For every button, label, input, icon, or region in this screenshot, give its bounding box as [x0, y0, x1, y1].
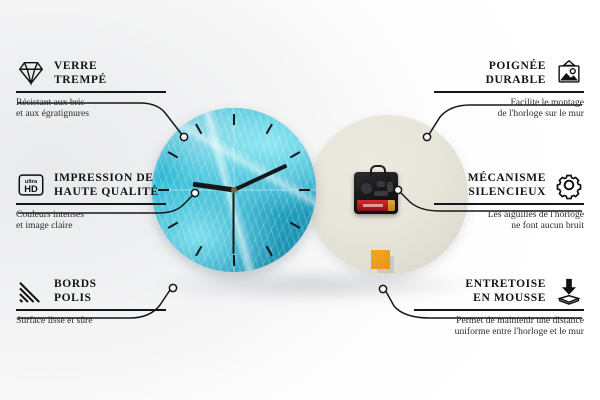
- callout-divider: [16, 91, 166, 93]
- callout-mecanisme-silencieux[interactable]: MÉCANISME SILENCIEUX Les aiguilles de l'…: [434, 170, 584, 232]
- callout-impression-haute-qualite[interactable]: ultra HD IMPRESSION DE HAUTE QUALITÉ Cou…: [16, 170, 166, 232]
- callout-header: VERRE TREMPÉ: [16, 58, 166, 88]
- callout-title: MÉCANISME SILENCIEUX: [468, 171, 546, 199]
- callout-description: Facilite le montage de l'horloge sur le …: [434, 97, 584, 120]
- mechanism-hanger-loop: [370, 165, 386, 177]
- callout-title: ENTRETOISE EN MOUSSE: [465, 277, 546, 305]
- callout-title: POIGNÉE DURABLE: [486, 59, 546, 87]
- callout-title: BORDS POLIS: [54, 277, 97, 305]
- gear-icon: [554, 170, 584, 200]
- callout-description: Surface lisse et sûre: [16, 315, 166, 327]
- arrow-down-onto-pad-icon: [554, 276, 584, 306]
- callout-poignee-durable[interactable]: POIGNÉE DURABLE Facilite le montage de l…: [434, 58, 584, 120]
- callout-verre-trempe[interactable]: VERRE TREMPÉ Résistant aux bris et aux é…: [16, 58, 166, 120]
- clock-hour-mark: [233, 114, 235, 125]
- foam-spacer-sample: [371, 250, 390, 269]
- callout-description: Les aiguilles de l'horloge ne font aucun…: [434, 209, 584, 232]
- clock-front-face: [152, 108, 316, 272]
- callout-description: Résistant aux bris et aux égratignures: [16, 97, 166, 120]
- diamond-icon: [16, 58, 46, 88]
- battery-cap: [388, 200, 395, 211]
- ultra-hd-icon: ultra HD: [16, 170, 46, 200]
- callout-header: ENTRETOISE EN MOUSSE: [414, 276, 584, 306]
- callout-entretoise-en-mousse[interactable]: ENTRETOISE EN MOUSSE Permet de maintenir…: [414, 276, 584, 338]
- infographic-canvas: VERRE TREMPÉ Résistant aux bris et aux é…: [0, 0, 600, 400]
- polished-edge-icon: [16, 276, 46, 306]
- clock-mechanism: [354, 172, 398, 214]
- callout-header: POIGNÉE DURABLE: [434, 58, 584, 88]
- wall-hanging-picture-icon: [554, 58, 584, 88]
- callout-title: VERRE TREMPÉ: [54, 59, 107, 87]
- clock-hour-mark: [233, 255, 235, 266]
- callout-description: Permet de maintenir une distance uniform…: [414, 315, 584, 338]
- battery-stripe: [363, 204, 383, 207]
- mechanism-detail-a: [377, 181, 385, 187]
- callout-header: MÉCANISME SILENCIEUX: [434, 170, 584, 200]
- callout-bords-polis[interactable]: BORDS POLIS Surface lisse et sûre: [16, 276, 166, 326]
- mechanism-detail-b: [387, 182, 393, 192]
- callout-divider: [434, 203, 584, 205]
- mechanism-dial: [361, 183, 372, 194]
- callout-title: IMPRESSION DE HAUTE QUALITÉ: [54, 171, 159, 199]
- clock-hands-hub: [231, 187, 237, 193]
- callout-header: BORDS POLIS: [16, 276, 166, 306]
- callout-description: Couleurs intenses et image claire: [16, 209, 166, 232]
- callout-divider: [434, 91, 584, 93]
- clock-hour-mark: [299, 189, 310, 191]
- callout-divider: [16, 203, 166, 205]
- mechanism-detail-c: [374, 191, 388, 196]
- callout-divider: [16, 309, 166, 311]
- svg-text:HD: HD: [24, 184, 38, 194]
- callout-header: ultra HD IMPRESSION DE HAUTE QUALITÉ: [16, 170, 166, 200]
- callout-divider: [414, 309, 584, 311]
- mechanism-battery: [357, 200, 395, 211]
